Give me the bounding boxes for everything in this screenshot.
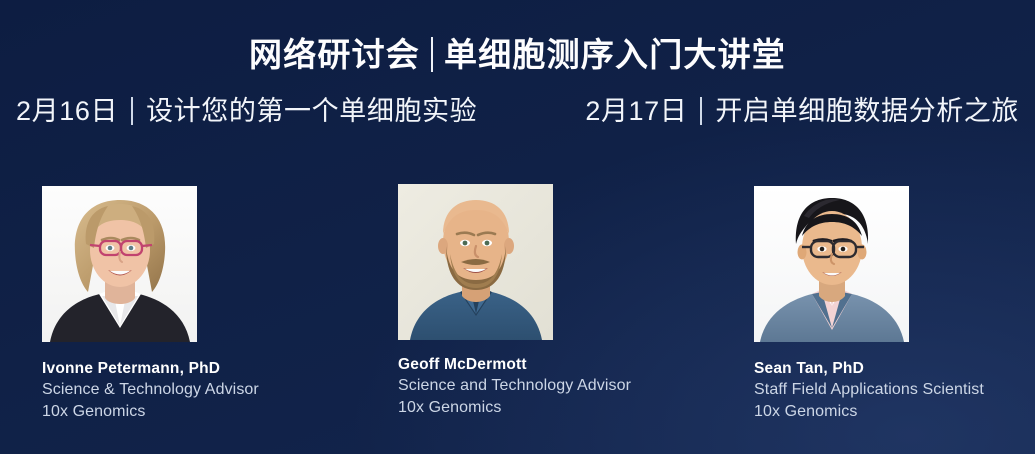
session-1-topic: 设计您的第一个单细胞实验 bbox=[146, 92, 477, 130]
speaker-2-name: Geoff McDermott bbox=[398, 354, 700, 375]
speaker-1-name: Ivonne Petermann, PhD bbox=[42, 358, 342, 379]
speaker-1-photo bbox=[42, 186, 197, 342]
speaker-3-organization: 10x Genomics bbox=[754, 401, 1035, 423]
speaker-3-photo bbox=[754, 186, 909, 342]
speaker-2-role: Science and Technology Advisor bbox=[398, 375, 700, 397]
speaker-card-2: Geoff McDermott Science and Technology A… bbox=[390, 184, 700, 419]
speaker-2-organization: 10x Genomics bbox=[398, 397, 700, 419]
speaker-3-role: Staff Field Applications Scientist bbox=[754, 379, 1035, 401]
speaker-card-3: Sean Tan, PhD Staff Field Applications S… bbox=[745, 184, 1035, 423]
speaker-1-role: Science & Technology Advisor bbox=[42, 379, 342, 401]
speaker-2-meta: Geoff McDermott Science and Technology A… bbox=[390, 354, 700, 419]
session-1-separator-bar bbox=[131, 97, 133, 125]
title-separator-bar bbox=[431, 37, 433, 72]
speaker-2-photo bbox=[398, 184, 553, 340]
page-title: 网络研讨会单细胞测序入门大讲堂 bbox=[0, 33, 1035, 77]
speaker-3-name: Sean Tan, PhD bbox=[754, 358, 1035, 379]
speaker-card-1: Ivonne Petermann, PhD Science & Technolo… bbox=[32, 184, 342, 423]
speaker-list: Ivonne Petermann, PhD Science & Technolo… bbox=[0, 184, 1035, 434]
session-2-topic: 开启单细胞数据分析之旅 bbox=[715, 92, 1019, 130]
title-main: 网络研讨会 bbox=[249, 33, 420, 77]
title-sub: 单细胞测序入门大讲堂 bbox=[444, 33, 786, 77]
speaker-3-meta: Sean Tan, PhD Staff Field Applications S… bbox=[745, 358, 1035, 423]
session-1-date: 2月16日 bbox=[16, 92, 118, 130]
session-list: 2月16日 设计您的第一个单细胞实验 2月17日 开启单细胞数据分析之旅 bbox=[16, 90, 1019, 132]
session-item-2: 2月17日 开启单细胞数据分析之旅 bbox=[585, 92, 1019, 130]
session-item-1: 2月16日 设计您的第一个单细胞实验 bbox=[16, 92, 477, 130]
session-2-date: 2月17日 bbox=[585, 92, 687, 130]
session-2-separator-bar bbox=[700, 97, 702, 125]
webinar-banner: 网络研讨会单细胞测序入门大讲堂 2月16日 设计您的第一个单细胞实验 2月17日… bbox=[0, 0, 1035, 454]
speaker-1-meta: Ivonne Petermann, PhD Science & Technolo… bbox=[32, 358, 342, 423]
speaker-1-organization: 10x Genomics bbox=[42, 401, 342, 423]
